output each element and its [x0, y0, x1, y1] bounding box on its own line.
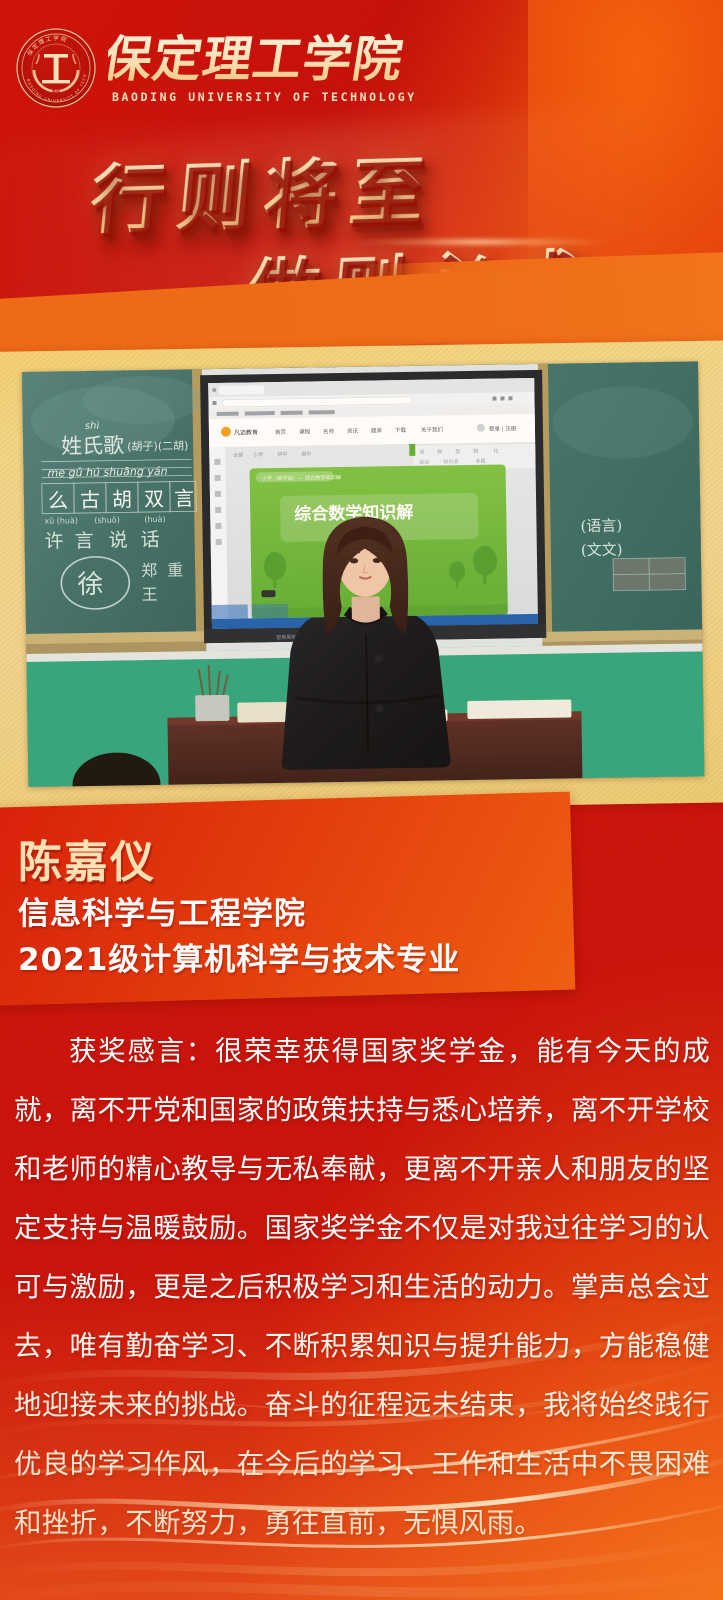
svg-text:1999: 1999 [51, 88, 61, 93]
student-college: 信息科学与工程学院 [18, 888, 306, 933]
university-seal-icon: 保定理工学院 BAODING UNIVERSITY OF TECHNOLOGY … [14, 26, 98, 110]
scholarship-poster: 保定理工学院 BAODING UNIVERSITY OF TECHNOLOGY … [0, 0, 723, 1600]
classroom-photo: shì 姓氏歌 (胡子)(二胡) me gǔ hú shuāng yán [22, 361, 704, 787]
poster-header: 保定理工学院 BAODING UNIVERSITY OF TECHNOLOGY … [0, 0, 723, 120]
university-name-cn-wordmark: 保定理工学院 [108, 28, 428, 90]
university-name-en: BAODING UNIVERSITY OF TECHNOLOGY [112, 90, 417, 104]
student-major: 2021级计算机科学与技术专业 [18, 934, 460, 979]
university-name-cn-text: 保定理工学院 [108, 30, 408, 88]
profile-text-group: 陈嘉仪 信息科学与工程学院 2021级计算机科学与技术专业 [0, 806, 723, 1016]
student-name: 陈嘉仪 [18, 826, 156, 890]
bottom-light-ribbons [0, 1270, 723, 1600]
